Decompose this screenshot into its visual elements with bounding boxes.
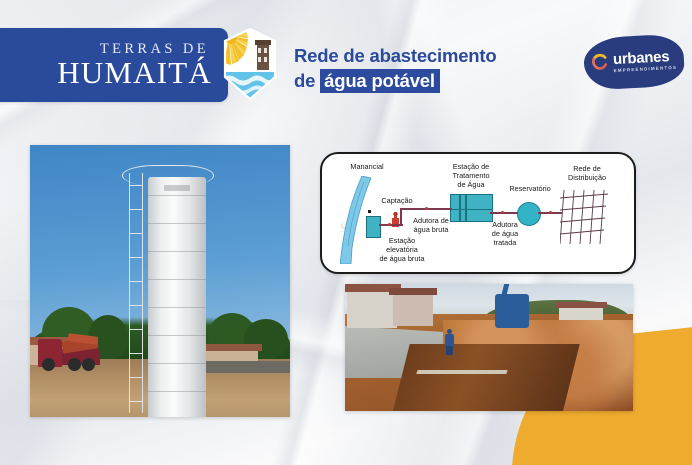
excavator [495,294,529,328]
worker [445,329,454,355]
label-manancial: Manancial [340,162,394,171]
title-prefix: de [294,70,320,91]
photo-pipeline-trench[interactable] [345,284,633,411]
label-line: Distribuição [568,173,606,182]
open-trench [393,344,580,411]
label-reservatorio: Reservatório [502,184,558,193]
label-line: de água [492,229,518,238]
label-line: de água bruta [379,254,424,263]
water-supply-system-diagram: si [320,152,636,274]
urbanes-arc-icon [591,52,610,76]
logo-blob-content: urbanes EMPREENDIMENTOS [583,33,686,90]
urbanes-company-logo[interactable]: urbanes EMPREENDIMENTOS [584,26,688,100]
label-rede-distribuicao: Rede de Distribuição [560,164,614,182]
rede-distribuicao-grid-icon [560,188,610,246]
label-estacao-elevatoria: Estação elevatória de água bruta [372,236,432,263]
label-adutora-agua-tratada: Adutora de água tratada [484,220,526,247]
title-line-2: de água potável [294,69,574,94]
building-roof [202,344,262,351]
urbanes-tagline: EMPREENDIMENTOS [614,66,678,74]
captacao-intake-structure [366,216,381,238]
label-line: de Água [457,180,484,189]
label-line: Estação de [453,162,490,171]
terras-de-humaita-logo-bar: TERRAS DE HUMAITÁ [0,28,228,102]
photo-water-tower[interactable] [30,145,290,417]
water-tower-tank [148,177,206,417]
label-captacao: Captação [374,196,420,205]
label-line: Tratamento [452,171,489,180]
label-line: Estação [389,236,415,245]
label-line: tratada [494,238,517,247]
title-line-1: Rede de abastecimento [294,44,574,69]
label-line: água bruta [414,225,449,234]
label-line: elevatória [386,245,418,254]
humaita-city-emblem-icon [222,28,278,101]
estacao-tratamento-icon [450,194,493,222]
logo-line-terras-de: TERRAS DE [100,42,209,57]
label-line: Adutora de [413,216,449,225]
slide-canvas: TERRAS DE HUMAITÁ [0,0,692,465]
label-line: Rede de [573,164,601,173]
title-highlight: água potável [320,69,440,93]
pipe-in-trench [416,370,507,374]
house [393,292,433,326]
house-roof [389,288,437,295]
logo-line-humaita: HUMAITÁ [57,57,212,88]
logo-wordmark: TERRAS DE HUMAITÁ [0,28,228,102]
crane-truck [38,333,100,373]
label-estacao-tratamento: Estação de Tratamento de Água [444,162,498,189]
captacao-point-marker [368,210,371,213]
page-title: Rede de abastecimento de água potável [294,44,574,94]
pipe-segment [400,208,402,226]
tower-ladder [126,173,146,413]
label-line: Adutora [492,220,518,229]
house-roof [555,302,607,308]
urbanes-name: urbanes [613,49,670,67]
label-adutora-agua-bruta: Adutora de água bruta [408,216,454,234]
